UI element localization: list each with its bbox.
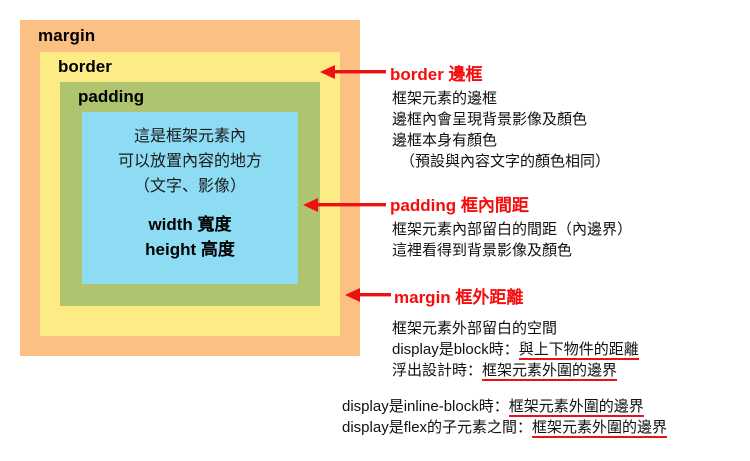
margin-callout-arrow xyxy=(345,286,391,304)
callout-title-margin: margin 框外距離 xyxy=(394,283,523,308)
callout-margin-float: 浮出設計時：框架元素外圍的邊界 xyxy=(392,360,617,381)
border-layer: border padding 這是框架元素內 可以放置內容的地方 （文字、影像）… xyxy=(40,52,340,336)
margin-display-block-underlined: 與上下物件的距離 xyxy=(519,341,639,360)
callout-border-line-3: 邊框本身有顏色 xyxy=(392,130,497,151)
padding-layer-label: padding xyxy=(78,87,144,107)
content-text-line-3: （文字、影像） xyxy=(134,174,246,199)
content-layer: 這是框架元素內 可以放置內容的地方 （文字、影像） width 寬度 heigh… xyxy=(82,112,298,284)
content-text-width: width 寬度 xyxy=(148,212,231,237)
callout-padding-line-2: 這裡看得到背景影像及顏色 xyxy=(392,240,572,261)
callout-padding-line-1: 框架元素內部留白的間距（內邊界） xyxy=(392,219,632,240)
margin-display-block-prefix: display是block時： xyxy=(392,341,519,358)
margin-flex-prefix: display是flex的子元素之間： xyxy=(342,419,532,436)
callout-title-padding: padding 框內間距 xyxy=(390,191,529,216)
content-text-line-1: 這是框架元素內 xyxy=(134,124,246,149)
callout-border-line-2: 邊框內會呈現背景影像及顏色 xyxy=(392,109,587,130)
box-model-diagram: margin border padding 這是框架元素內 可以放置內容的地方 … xyxy=(20,20,360,356)
padding-callout-arrow xyxy=(303,196,386,214)
callout-margin-inline-block: display是inline-block時：框架元素外圍的邊界 xyxy=(342,396,644,417)
border-layer-label: border xyxy=(58,57,112,77)
margin-inline-block-prefix: display是inline-block時： xyxy=(342,398,509,415)
padding-layer: padding 這是框架元素內 可以放置內容的地方 （文字、影像） width … xyxy=(60,82,320,306)
content-text-line-2: 可以放置內容的地方 xyxy=(118,149,262,174)
callout-title-border: border 邊框 xyxy=(390,60,483,85)
content-text-height: height 高度 xyxy=(145,237,235,262)
callout-margin-line-1: 框架元素外部留白的空間 xyxy=(392,318,557,339)
callout-border-line-4: （預設與內容文字的顏色相同） xyxy=(400,151,610,172)
margin-float-underlined: 框架元素外圍的邊界 xyxy=(482,362,617,381)
border-callout-arrow xyxy=(320,63,386,81)
margin-float-prefix: 浮出設計時： xyxy=(392,362,482,379)
callout-border-line-1: 框架元素的邊框 xyxy=(392,88,497,109)
margin-inline-block-underlined: 框架元素外圍的邊界 xyxy=(509,398,644,417)
margin-layer: margin border padding 這是框架元素內 可以放置內容的地方 … xyxy=(20,20,360,356)
callout-margin-flex: display是flex的子元素之間：框架元素外圍的邊界 xyxy=(342,417,667,438)
callout-margin-display-block: display是block時：與上下物件的距離 xyxy=(392,339,639,360)
margin-layer-label: margin xyxy=(38,26,95,46)
margin-flex-underlined: 框架元素外圍的邊界 xyxy=(532,419,667,438)
